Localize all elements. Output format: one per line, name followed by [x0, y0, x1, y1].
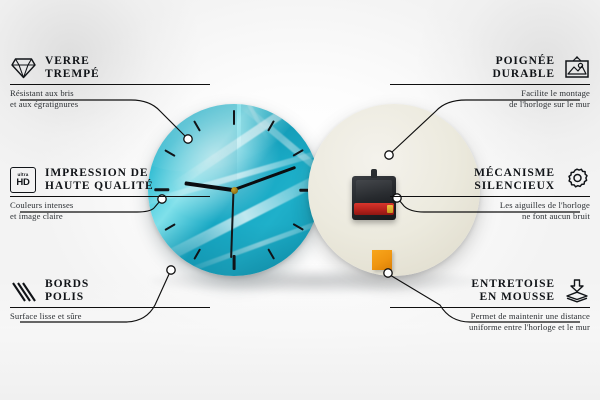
feature-title: MÉCANISME SILENCIEUX [474, 167, 555, 193]
feature-description: Permet de maintenir une distance uniform… [390, 311, 590, 332]
feature-header: VERRE TREMPÉ [10, 55, 210, 81]
feature-title: IMPRESSION DE HAUTE QUALITÉ [45, 167, 154, 193]
feature-description: Résistant aux bris et aux égratignures [10, 88, 210, 109]
feature-header: ultra HD IMPRESSION DE HAUTE QUALITÉ [10, 167, 210, 193]
feature-poignee-durable[interactable]: POIGNÉE DURABLE Facilite le montage de l… [390, 55, 590, 109]
mechanism-shaft [371, 169, 377, 178]
feature-title: VERRE TREMPÉ [45, 55, 100, 81]
feature-header: BORDS POLIS [10, 278, 210, 304]
feature-divider [390, 196, 590, 197]
foam-spacer-icon [564, 278, 590, 304]
feature-title: POIGNÉE DURABLE [492, 55, 555, 81]
feature-description: Les aiguilles de l'horloge ne font aucun… [390, 200, 590, 221]
clock-second-hand [231, 190, 235, 258]
feature-title: ENTRETOISE EN MOUSSE [471, 278, 555, 304]
feature-divider [390, 84, 590, 85]
mechanism-battery [354, 203, 394, 215]
picture-frame-icon [564, 55, 590, 81]
hd-main-label: HD [16, 178, 29, 188]
feature-divider [10, 196, 210, 197]
infographic-scene: VERRE TREMPÉ Résistant aux bris et aux é… [0, 0, 600, 400]
ultra-hd-icon: ultra HD [10, 167, 36, 193]
mechanism-plate [356, 180, 392, 202]
foam-spacer-pad [372, 250, 392, 270]
feature-impression-haute-qualite[interactable]: ultra HD IMPRESSION DE HAUTE QUALITÉ Cou… [10, 167, 210, 221]
feature-mecanisme-silencieux[interactable]: MÉCANISME SILENCIEUX Les aiguilles de l'… [390, 167, 590, 221]
feature-title: BORDS POLIS [45, 278, 89, 304]
clock-minute-hand [233, 166, 296, 192]
feature-description: Facilite le montage de l'horloge sur le … [390, 88, 590, 109]
polished-edges-icon [10, 278, 36, 304]
feature-divider [390, 307, 590, 308]
feature-description: Surface lisse et sûre [10, 311, 210, 322]
feature-bords-polis[interactable]: BORDS POLIS Surface lisse et sûre [10, 278, 210, 322]
feature-header: POIGNÉE DURABLE [390, 55, 590, 81]
feature-divider [10, 307, 210, 308]
feature-header: MÉCANISME SILENCIEUX [390, 167, 590, 193]
diamond-icon [10, 55, 36, 81]
hd-badge: ultra HD [10, 167, 36, 193]
feature-divider [10, 84, 210, 85]
gear-icon [564, 167, 590, 193]
clock-center-cap [231, 187, 238, 194]
feature-entretoise-en-mousse[interactable]: ENTRETOISE EN MOUSSE Permet de maintenir… [390, 278, 590, 332]
feature-verre-trempe[interactable]: VERRE TREMPÉ Résistant aux bris et aux é… [10, 55, 210, 109]
feature-description: Couleurs intenses et image claire [10, 200, 210, 221]
feature-header: ENTRETOISE EN MOUSSE [390, 278, 590, 304]
